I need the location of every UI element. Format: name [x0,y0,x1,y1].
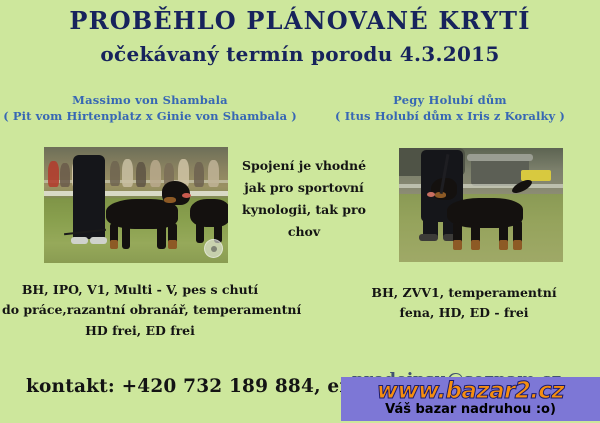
photo-dog-marking [164,197,176,203]
male-dog-header: Massimo von Shambala ( Pit vom Hirtenpla… [0,93,300,124]
photo-handler-shoe [419,234,438,241]
photo-dog-marking [499,240,508,250]
photo-crowd [110,161,120,186]
female-dog-header: Pegy Holubí dům ( Itus Holubí dům x Iris… [300,93,600,124]
male-dog-caption: BH, IPO, V1, Multi - V, pes s chutí do p… [2,280,278,341]
contact-line: kontakt: +420 732 189 884, email: [26,376,393,397]
bazar2-domain-text: www.bazar2.cz [341,378,600,404]
photo-dog-marking [168,240,177,249]
photo-dog-leg [122,223,130,249]
photo-crowd [194,162,204,187]
photo-handler-shoe [71,237,88,244]
page-title: PROBĚHLO PLÁNOVANÉ KRYTÍ [0,6,600,35]
female-dog-photo [399,148,563,262]
male-caption-line: BH, IPO, V1, Multi - V, pes s chutí [2,280,278,300]
male-caption-line: HD frei, ED frei [2,321,278,341]
center-note-line: chov [236,221,372,243]
photo-dog-tongue [182,193,191,198]
center-note-line: jak pro sportovní [236,177,372,199]
female-dog-parents: ( Itus Holubí dům x Iris z Koralky ) [300,109,600,125]
female-dog-name: Pegy Holubí dům [300,93,600,109]
female-caption-line: fena, HD, ED - frei [336,303,592,323]
photo-crowd [48,161,59,187]
breeding-announcement-poster: PROBĚHLO PLÁNOVANÉ KRYTÍ očekávaný termí… [0,0,600,423]
photo-crowd [136,162,146,187]
male-caption-line: do práce,razantní obranář, temperamentní [2,300,278,320]
photo-handler-leg [74,207,87,241]
male-dog-photo [44,147,228,263]
photo-crowd [60,163,70,187]
photo-dog-marking [471,240,480,250]
mating-suitability-note: Spojení je vhodné jak pro sportovní kyno… [236,155,372,243]
page-subtitle: očekávaný termín porodu 4.3.2015 [0,42,600,66]
photo-crowd [122,159,133,187]
photo-dog-tongue [427,192,435,197]
male-dog-name: Massimo von Shambala [0,93,300,109]
photo-dog-marking [110,240,118,249]
photo-crowd [208,160,219,187]
female-caption-line: BH, ZVV1, temperamentní [336,283,592,303]
photo-dog-leg [157,223,166,249]
photo-dog-marking [513,240,522,250]
photo-dog-marking [453,240,462,250]
photo-second-dog-leg [196,221,204,243]
male-dog-parents: ( Pit vom Hirtenplatz x Ginie von Shamba… [0,109,300,125]
photo-handler-shoe [90,237,107,244]
center-note-line: Spojení je vhodné [236,155,372,177]
center-note-line: kynologii, tak pro [236,199,372,221]
female-dog-caption: BH, ZVV1, temperamentní fena, HD, ED - f… [336,283,592,324]
bazar2-watermark-banner: www.bazar2.cz Váš bazar nadruhou :o) [341,377,600,421]
photo-watermark-icon [204,239,223,258]
photo-crowd [150,160,161,187]
photo-tent-roof [467,154,533,161]
bazar2-tagline-text: Váš bazar nadruhou :o) [341,402,600,417]
photo-handler-leg [91,207,104,241]
photo-fence-rail [44,191,228,196]
